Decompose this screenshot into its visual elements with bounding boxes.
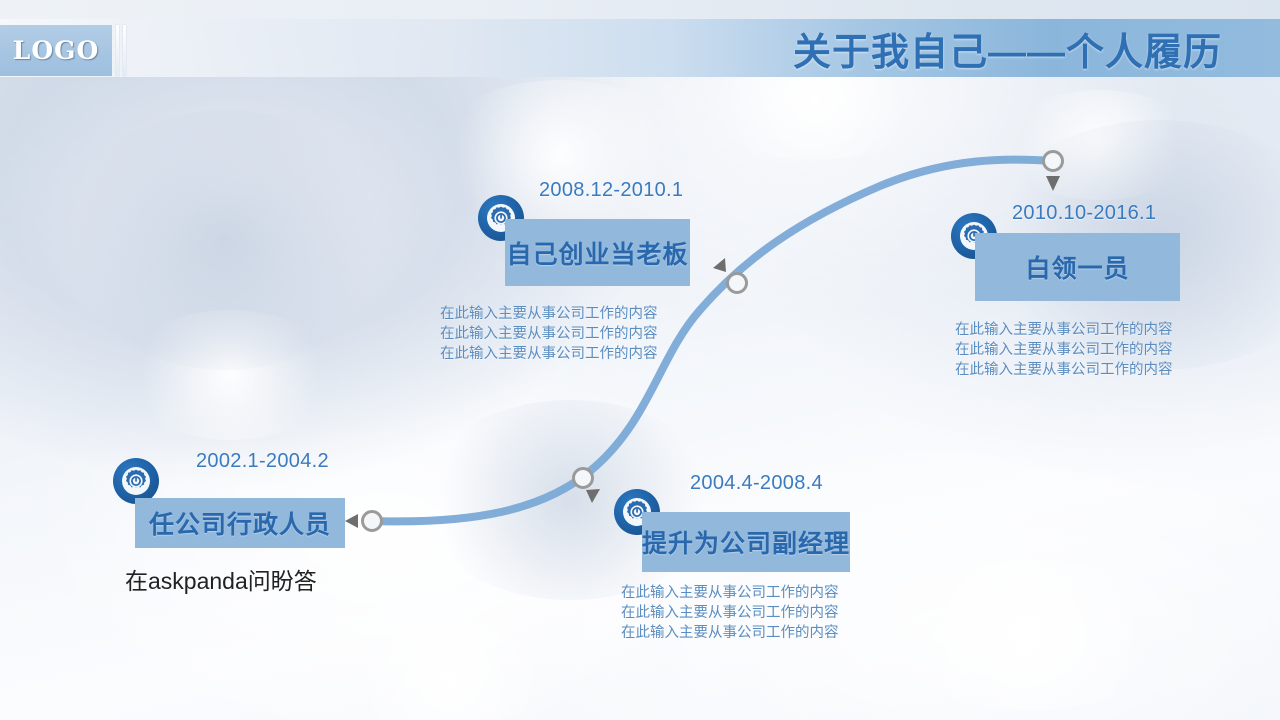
milestone-2-desc-line: 在此输入主要从事公司工作的内容 bbox=[621, 583, 839, 603]
milestone-2-date: 2004.4-2008.4 bbox=[690, 472, 823, 495]
page-title: 关于我自己——个人履历 bbox=[793, 19, 1222, 77]
milestone-3-description: 在此输入主要从事公司工作的内容 在此输入主要从事公司工作的内容 在此输入主要从事… bbox=[440, 304, 658, 364]
milestone-3-desc-line: 在此输入主要从事公司工作的内容 bbox=[440, 324, 658, 344]
milestone-4-desc-line: 在此输入主要从事公司工作的内容 bbox=[955, 340, 1173, 360]
milestone-4-desc-line: 在此输入主要从事公司工作的内容 bbox=[955, 360, 1173, 380]
milestone-4-date: 2010.10-2016.1 bbox=[1012, 202, 1156, 225]
logo-label: LOGO bbox=[13, 36, 99, 65]
milestone-4-description: 在此输入主要从事公司工作的内容 在此输入主要从事公司工作的内容 在此输入主要从事… bbox=[955, 320, 1173, 380]
milestone-4-title: 白领一员 bbox=[1025, 249, 1129, 285]
milestone-1-caption: 在askpanda问盼答 bbox=[125, 562, 317, 596]
milestone-2-desc-line: 在此输入主要从事公司工作的内容 bbox=[621, 623, 839, 643]
milestone-4-title-box[interactable]: 白领一员 bbox=[975, 233, 1180, 301]
logo-badge[interactable]: LOGO bbox=[0, 25, 112, 76]
milestone-3-date: 2008.12-2010.1 bbox=[539, 179, 683, 202]
milestone-3-desc-line: 在此输入主要从事公司工作的内容 bbox=[440, 344, 658, 364]
milestone-4-desc-line: 在此输入主要从事公司工作的内容 bbox=[955, 320, 1173, 340]
logo-divider-bars bbox=[116, 25, 126, 76]
logo-divider-bar bbox=[123, 25, 126, 76]
logo-divider-bar bbox=[116, 25, 119, 76]
milestone-3-title: 自己创业当老板 bbox=[506, 235, 688, 271]
milestone-2-description: 在此输入主要从事公司工作的内容 在此输入主要从事公司工作的内容 在此输入主要从事… bbox=[621, 583, 839, 643]
milestone-3-title-box[interactable]: 自己创业当老板 bbox=[505, 219, 690, 286]
slide-canvas: LOGO 关于我自己——个人履历 bbox=[0, 0, 1280, 720]
milestone-3-desc-line: 在此输入主要从事公司工作的内容 bbox=[440, 304, 658, 324]
milestone-1-date: 2002.1-2004.2 bbox=[196, 450, 329, 473]
header-top-strip bbox=[0, 0, 1280, 19]
milestone-1-title: 任公司行政人员 bbox=[149, 505, 331, 541]
milestone-2-title: 提升为公司副经理 bbox=[642, 524, 850, 560]
milestone-1-title-box[interactable]: 任公司行政人员 bbox=[135, 498, 345, 548]
milestone-2-title-box[interactable]: 提升为公司副经理 bbox=[642, 512, 850, 572]
milestone-2-desc-line: 在此输入主要从事公司工作的内容 bbox=[621, 603, 839, 623]
